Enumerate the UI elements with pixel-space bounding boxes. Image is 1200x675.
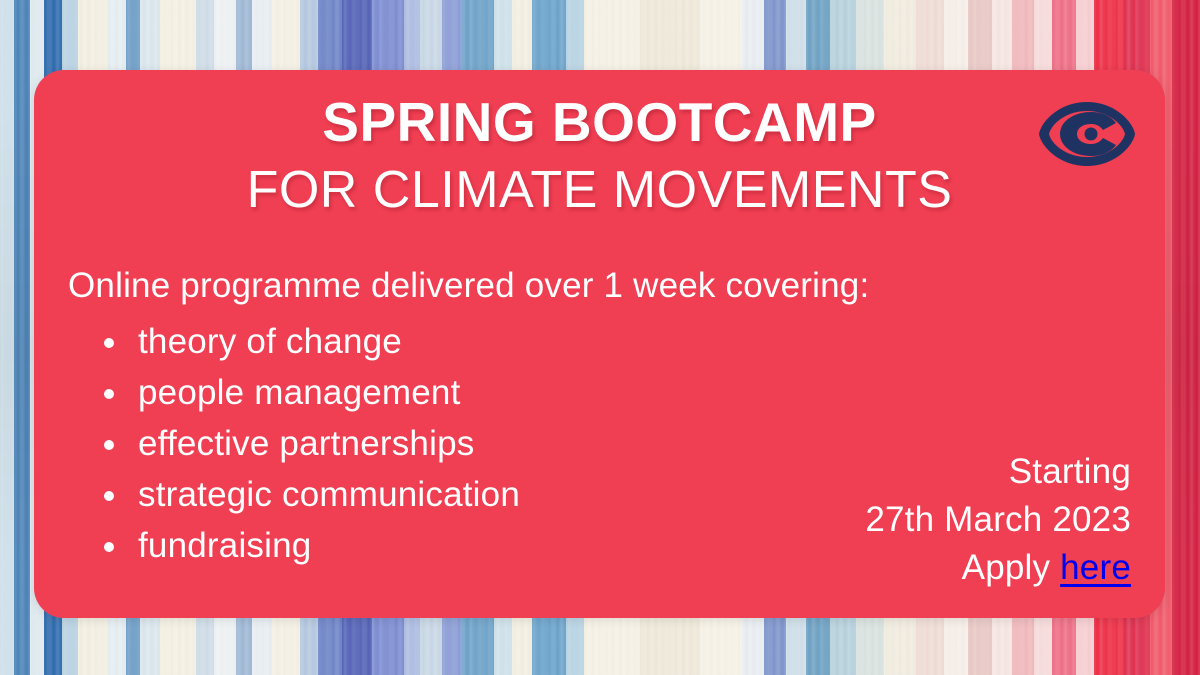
start-date: 27th March 2023	[865, 496, 1131, 544]
list-item: effective partnerships	[100, 418, 520, 469]
start-info-block: Starting 27th March 2023 Apply here	[865, 448, 1131, 592]
apply-here-link[interactable]: here	[1060, 548, 1131, 587]
page-title: SPRING BOOTCAMP	[34, 90, 1165, 154]
starting-label: Starting	[865, 448, 1131, 496]
topics-list: theory of change people management effec…	[100, 316, 520, 571]
apply-label: Apply	[962, 548, 1060, 587]
page-subtitle: FOR CLIMATE MOVEMENTS	[34, 160, 1165, 220]
poster: SPRING BOOTCAMP FOR CLIMATE MOVEMENTS On…	[0, 0, 1200, 675]
list-item: fundraising	[100, 520, 520, 571]
apply-line: Apply here	[865, 544, 1131, 592]
list-item: theory of change	[100, 316, 520, 367]
eye-c-logo	[1035, 92, 1139, 176]
list-item: people management	[100, 367, 520, 418]
content-card: SPRING BOOTCAMP FOR CLIMATE MOVEMENTS On…	[34, 70, 1165, 618]
list-item: strategic communication	[100, 469, 520, 520]
pupil-dot	[1085, 128, 1098, 141]
programme-description: Online programme delivered over 1 week c…	[68, 266, 869, 306]
